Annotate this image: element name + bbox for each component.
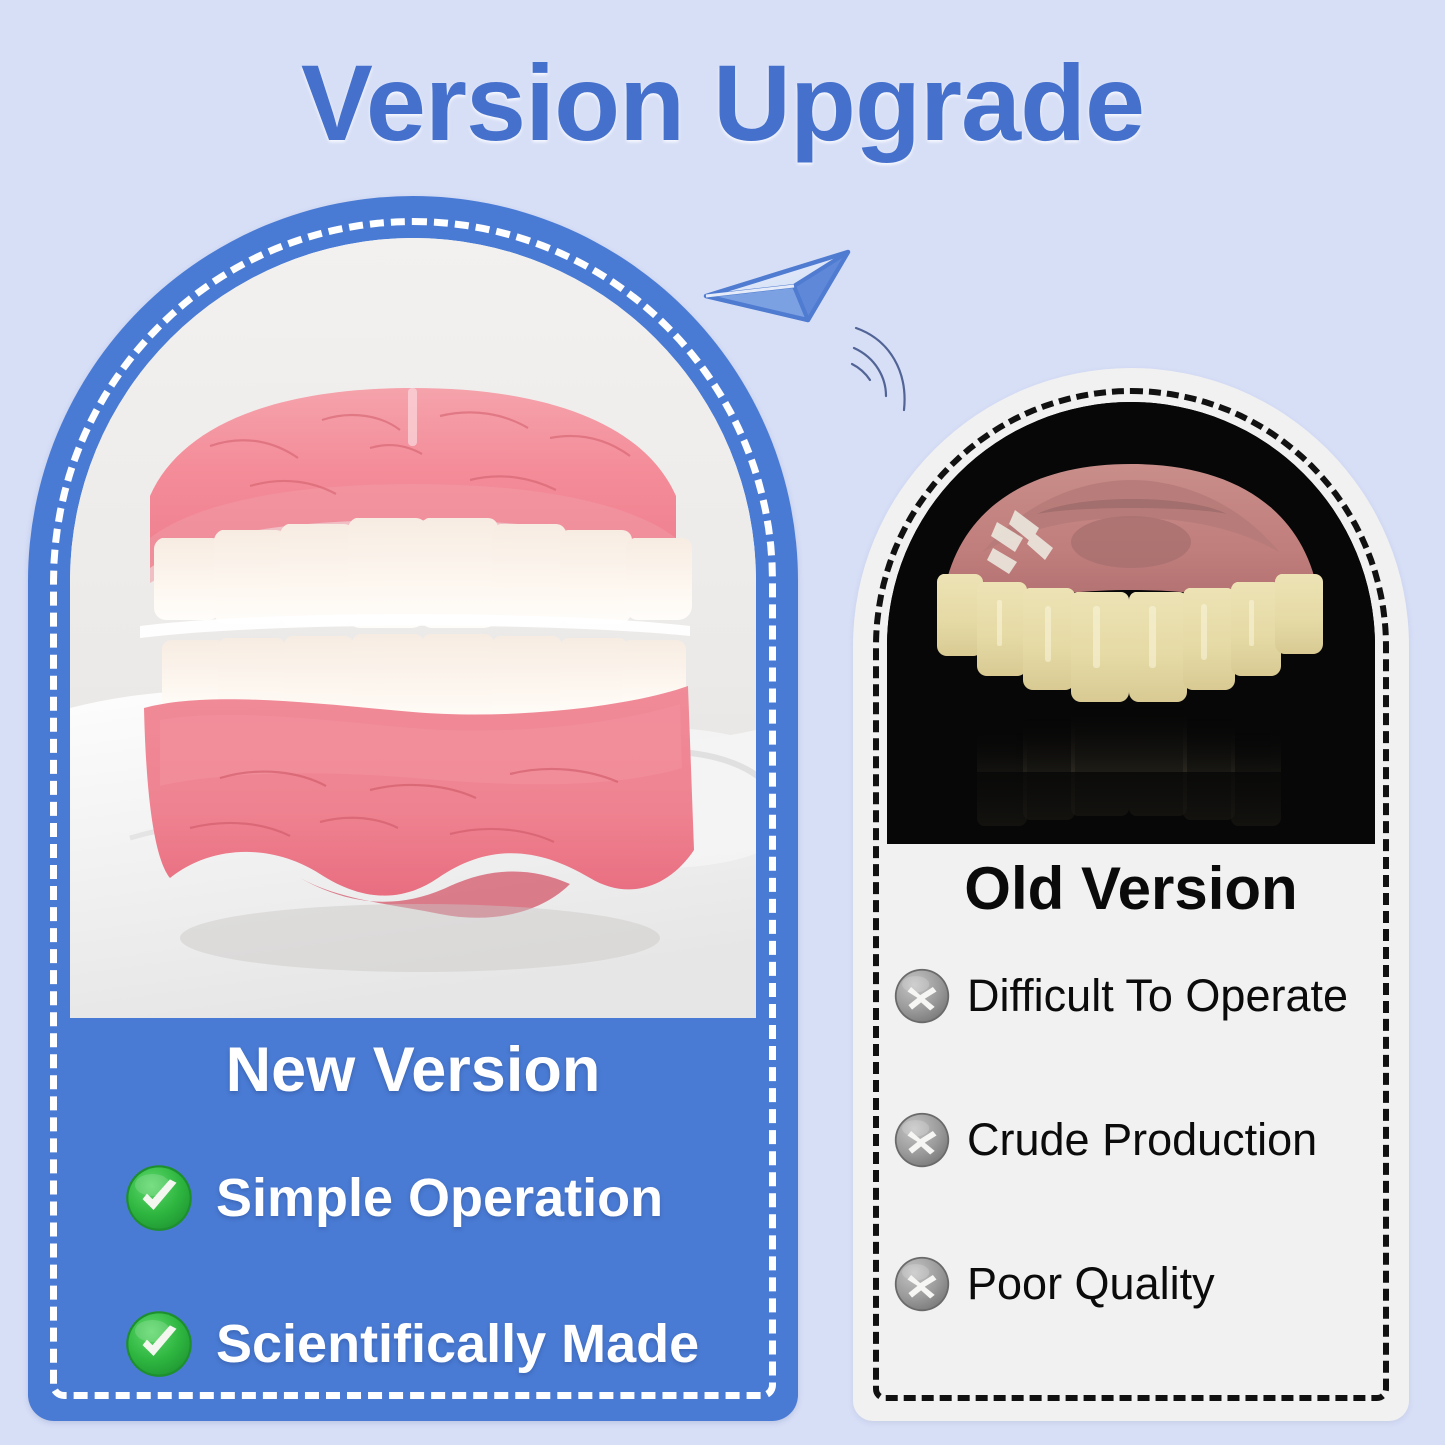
feature-label: Crude Production <box>967 1114 1317 1166</box>
new-denture-illustration <box>70 238 756 1018</box>
new-denture-photo <box>70 238 756 1018</box>
motion-arc-icon <box>852 328 905 410</box>
new-version-feature-list: Simple Operation Scientifically Made Qua… <box>124 1161 764 1421</box>
x-circle-icon <box>893 967 951 1025</box>
feature-label: Simple Operation <box>216 1167 663 1229</box>
feature-label: Scientifically Made <box>216 1313 699 1375</box>
check-circle-icon <box>124 1309 194 1379</box>
x-circle-icon <box>893 1255 951 1313</box>
old-denture-photo <box>887 402 1375 844</box>
paper-plane-icon <box>706 252 848 320</box>
list-item: Poor Quality <box>893 1253 1363 1315</box>
list-item: Difficult To Operate <box>893 965 1363 1027</box>
list-item: Crude Production <box>893 1109 1363 1171</box>
old-version-card: Old Version Difficult To Operate <box>853 368 1409 1421</box>
list-item: Scientifically Made <box>124 1307 764 1381</box>
check-circle-icon <box>124 1163 194 1233</box>
old-version-title: Old Version <box>853 854 1409 923</box>
list-item: Simple Operation <box>124 1161 764 1235</box>
old-version-feature-list: Difficult To Operate Crude Production Po… <box>893 965 1363 1397</box>
old-denture-illustration <box>887 402 1375 844</box>
x-circle-icon <box>893 1111 951 1169</box>
new-version-title: New Version <box>28 1034 798 1106</box>
feature-label: Poor Quality <box>967 1258 1215 1310</box>
feature-label: Difficult To Operate <box>967 970 1348 1022</box>
page-title: Version Upgrade <box>0 44 1445 163</box>
new-version-card: New Version Simple Operation <box>28 196 798 1421</box>
